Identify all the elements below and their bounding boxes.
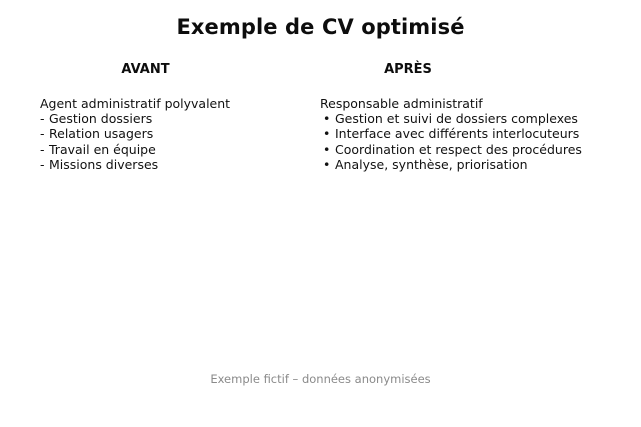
list-item-label: Analyse, synthèse, priorisation bbox=[335, 157, 528, 172]
dash-marker-icon: - bbox=[40, 126, 49, 141]
dash-marker-icon: - bbox=[40, 142, 49, 157]
column-apres: APRÈS Responsable administratif •Gestion… bbox=[320, 62, 610, 172]
list-item: -Missions diverses bbox=[40, 157, 310, 172]
comparison-columns: AVANT Agent administratif polyvalent -Ge… bbox=[0, 62, 641, 192]
list-item: -Travail en équipe bbox=[40, 142, 310, 157]
bullet-marker-icon: • bbox=[320, 142, 335, 157]
column-avant: AVANT Agent administratif polyvalent -Ge… bbox=[40, 62, 310, 172]
bullet-marker-icon: • bbox=[320, 126, 335, 141]
list-item: -Relation usagers bbox=[40, 126, 310, 141]
list-item-label: Interface avec différents interlocuteurs bbox=[335, 126, 579, 141]
column-avant-role: Agent administratif polyvalent bbox=[40, 96, 310, 111]
dash-marker-icon: - bbox=[40, 157, 49, 172]
list-item: •Coordination et respect des procédures bbox=[320, 142, 610, 157]
list-item: •Interface avec différents interlocuteur… bbox=[320, 126, 610, 141]
list-item-label: Missions diverses bbox=[49, 157, 158, 172]
column-avant-list: -Gestion dossiers -Relation usagers -Tra… bbox=[40, 111, 310, 172]
slide-footer-note: Exemple fictif – données anonymisées bbox=[0, 372, 641, 387]
list-item-label: Gestion dossiers bbox=[49, 111, 152, 126]
slide-canvas: Exemple de CV optimisé AVANT Agent admin… bbox=[0, 0, 641, 427]
list-item-label: Relation usagers bbox=[49, 126, 153, 141]
list-item-label: Gestion et suivi de dossiers complexes bbox=[335, 111, 578, 126]
list-item-label: Travail en équipe bbox=[49, 142, 156, 157]
column-apres-role: Responsable administratif bbox=[320, 96, 610, 111]
column-apres-list: •Gestion et suivi de dossiers complexes … bbox=[320, 111, 610, 172]
list-item: •Gestion et suivi de dossiers complexes bbox=[320, 111, 610, 126]
column-avant-heading: AVANT bbox=[79, 62, 212, 78]
bullet-marker-icon: • bbox=[320, 157, 335, 172]
list-item-label: Coordination et respect des procédures bbox=[335, 142, 582, 157]
page-title: Exemple de CV optimisé bbox=[0, 14, 641, 40]
list-item: •Analyse, synthèse, priorisation bbox=[320, 157, 610, 172]
dash-marker-icon: - bbox=[40, 111, 49, 126]
column-apres-heading: APRÈS bbox=[325, 62, 491, 78]
bullet-marker-icon: • bbox=[320, 111, 335, 126]
list-item: -Gestion dossiers bbox=[40, 111, 310, 126]
